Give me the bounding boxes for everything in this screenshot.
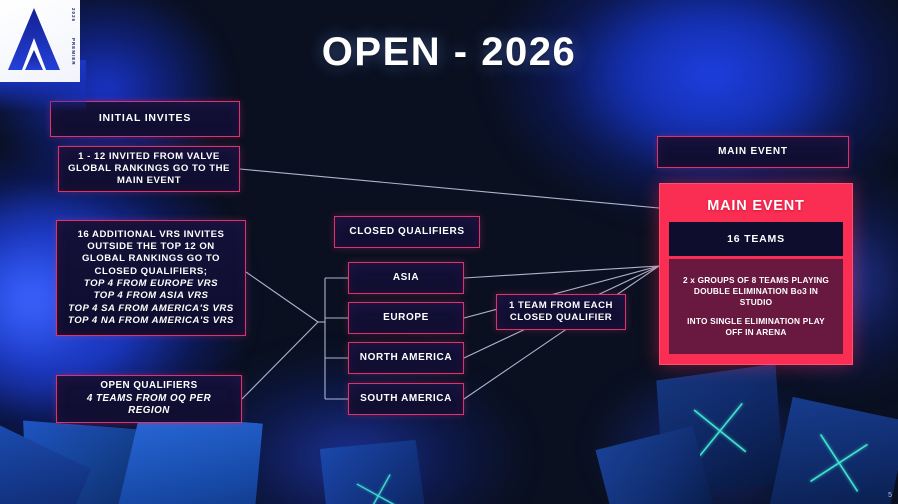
valve-invites-line-3: MAIN EVENT: [117, 175, 181, 187]
vrs-invites-italic-2: TOP 4 FROM ASIA VRS: [94, 290, 209, 302]
main-event-teams-label: 16 TEAMS: [727, 233, 785, 245]
main-event-desc2-line-2: OFF IN ARENA: [725, 327, 786, 338]
box-closed-qualifiers[interactable]: CLOSED QUALIFIERS: [334, 216, 480, 248]
box-region-south-america[interactable]: SOUTH AMERICA: [348, 383, 464, 415]
closed-qualifiers-label: CLOSED QUALIFIERS: [349, 226, 464, 239]
box-region-asia[interactable]: ASIA: [348, 262, 464, 294]
vrs-invites-line-3: GLOBAL RANKINGS GO TO: [82, 253, 220, 265]
main-event-header-label: MAIN EVENT: [718, 146, 788, 159]
vrs-invites-italic-3: TOP 4 SA FROM AMERICA'S VRS: [68, 303, 233, 315]
box-main-event-header[interactable]: MAIN EVENT: [657, 136, 849, 168]
logo-side-top: 2026: [67, 8, 75, 22]
one-team-line-2: CLOSED QUALIFIER: [510, 312, 612, 324]
box-valve-invites[interactable]: 1 - 12 INVITED FROM VALVE GLOBAL RANKING…: [58, 146, 240, 192]
valve-invites-line-1: 1 - 12 INVITED FROM VALVE: [78, 151, 220, 163]
vrs-invites-line-1: 16 ADDITIONAL VRS INVITES: [78, 229, 225, 241]
open-qualifiers-title: OPEN QUALIFIERS: [100, 380, 197, 393]
page-number: 5: [888, 492, 892, 499]
open-qualifiers-italic-2: REGION: [128, 405, 170, 418]
main-event-teams-box: 16 TEAMS: [669, 222, 843, 256]
box-region-north-america[interactable]: NORTH AMERICA: [348, 342, 464, 374]
region-north-america-label: NORTH AMERICA: [360, 352, 452, 365]
open-qualifiers-italic-1: 4 TEAMS FROM OQ PER: [87, 393, 211, 406]
main-event-desc-line-1: 2 x GROUPS OF 8 TEAMS PLAYING: [683, 275, 829, 286]
main-event-desc2-line-1: INTO SINGLE ELIMINATION PLAY: [687, 316, 825, 327]
box-one-team-from-each[interactable]: 1 TEAM FROM EACH CLOSED QUALIFIER: [496, 294, 626, 330]
page-title: OPEN - 2026: [0, 30, 898, 75]
valve-invites-line-2: GLOBAL RANKINGS GO TO THE: [68, 163, 230, 175]
main-event-description: 2 x GROUPS OF 8 TEAMS PLAYING DOUBLE ELI…: [669, 259, 843, 354]
vrs-invites-line-4: CLOSED QUALIFIERS;: [95, 266, 208, 278]
main-event-panel[interactable]: MAIN EVENT 16 TEAMS 2 x GROUPS OF 8 TEAM…: [659, 183, 853, 365]
vrs-invites-line-2: OUTSIDE THE TOP 12 ON: [87, 241, 214, 253]
region-asia-label: ASIA: [393, 272, 419, 285]
one-team-line-1: 1 TEAM FROM EACH: [509, 300, 613, 312]
main-event-title: MAIN EVENT: [707, 198, 804, 214]
vrs-invites-italic-1: TOP 4 FROM EUROPE VRS: [84, 278, 218, 290]
main-event-desc-line-3: STUDIO: [740, 297, 773, 308]
vrs-invites-italic-4: TOP 4 NA FROM AMERICA'S VRS: [68, 315, 234, 327]
box-region-europe[interactable]: EUROPE: [348, 302, 464, 334]
box-open-qualifiers[interactable]: OPEN QUALIFIERS 4 TEAMS FROM OQ PER REGI…: [56, 375, 242, 423]
region-europe-label: EUROPE: [383, 312, 429, 325]
main-event-desc-line-2: DOUBLE ELIMINATION Bo3 IN: [694, 286, 818, 297]
region-south-america-label: SOUTH AMERICA: [360, 393, 452, 406]
box-vrs-invites[interactable]: 16 ADDITIONAL VRS INVITES OUTSIDE THE TO…: [56, 220, 246, 336]
initial-invites-label: INITIAL INVITES: [99, 112, 191, 125]
